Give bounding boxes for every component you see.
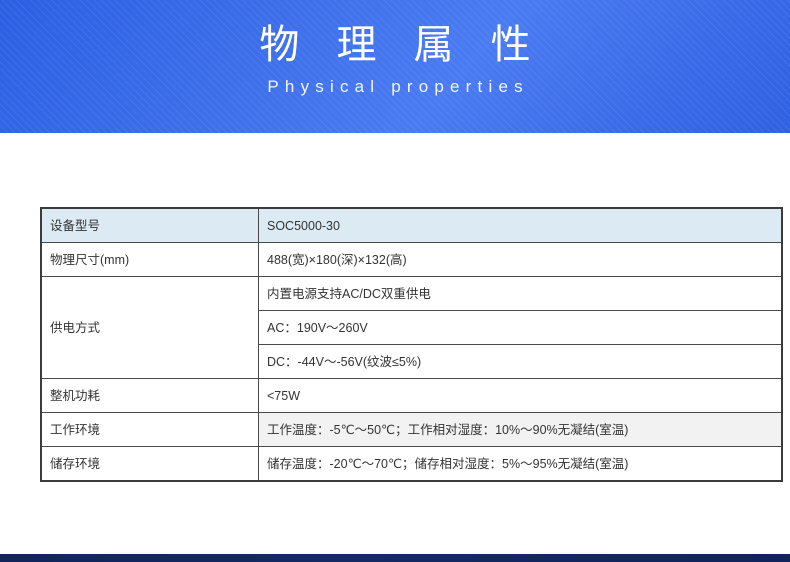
table-row: 设备型号 SOC5000-30 xyxy=(41,208,782,243)
spec-value-cell: SOC5000-30 xyxy=(259,208,783,243)
spec-table-container: 设备型号 SOC5000-30 物理尺寸(mm) 488(宽)×180(深)×1… xyxy=(40,207,748,482)
table-row: 整机功耗 <75W xyxy=(41,379,782,413)
physical-properties-table: 设备型号 SOC5000-30 物理尺寸(mm) 488(宽)×180(深)×1… xyxy=(40,207,783,482)
spec-label-cell: 整机功耗 xyxy=(41,379,259,413)
page-title: 物 理 属 性 xyxy=(246,22,543,68)
spec-label-cell: 物理尺寸(mm) xyxy=(41,243,259,277)
spec-value-cell: 内置电源支持AC/DC双重供电 xyxy=(259,277,783,311)
spec-label-cell: 设备型号 xyxy=(41,208,259,243)
spec-label-cell: 储存环境 xyxy=(41,447,259,482)
spec-label-cell: 供电方式 xyxy=(41,277,259,379)
spec-label-cell: 工作环境 xyxy=(41,413,259,447)
banner-content: 物 理 属 性 Physical properties xyxy=(0,0,790,133)
table-row: 储存环境 储存温度：-20℃～70℃；储存相对湿度：5%～95%无凝结(室温) xyxy=(41,447,782,482)
table-row: 供电方式 内置电源支持AC/DC双重供电 xyxy=(41,277,782,311)
footer-bar xyxy=(0,554,790,562)
spec-value-cell: <75W xyxy=(259,379,783,413)
spec-value-cell: 工作温度：-5℃～50℃；工作相对湿度：10%～90%无凝结(室温) xyxy=(259,413,783,447)
spec-value-cell: 储存温度：-20℃～70℃；储存相对湿度：5%～95%无凝结(室温) xyxy=(259,447,783,482)
spec-value-cell: 488(宽)×180(深)×132(高) xyxy=(259,243,783,277)
page-header-banner: 物 理 属 性 Physical properties xyxy=(0,0,790,133)
table-row: 物理尺寸(mm) 488(宽)×180(深)×132(高) xyxy=(41,243,782,277)
page-subtitle: Physical properties xyxy=(261,77,529,97)
table-row: 工作环境 工作温度：-5℃～50℃；工作相对湿度：10%～90%无凝结(室温) xyxy=(41,413,782,447)
spec-value-cell: DC：-44V～-56V(纹波≤5%) xyxy=(259,345,783,379)
spec-value-cell: AC：190V～260V xyxy=(259,311,783,345)
